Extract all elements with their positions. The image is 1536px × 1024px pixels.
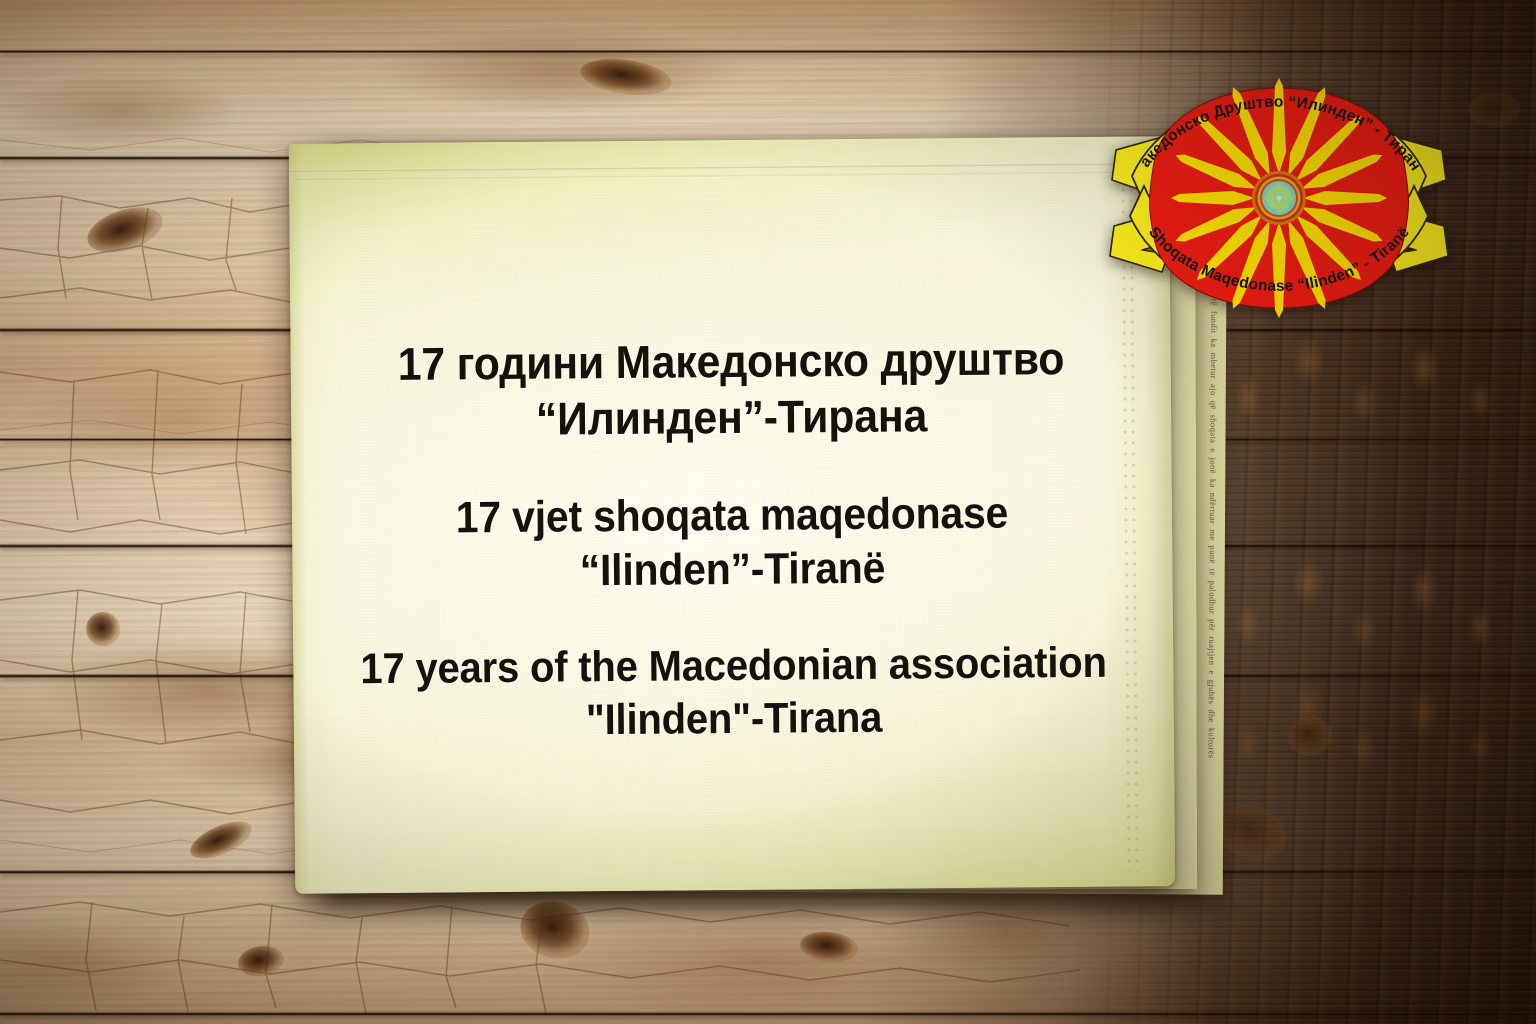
vergina-sun-core: [1252, 171, 1306, 225]
wood-knot: [1288, 716, 1332, 756]
headline-albanian-line2: “Ilinden”-Tiranë: [456, 540, 1009, 598]
ilinden-tirana-emblem: Македонско Друштво “Илинден” - Тирана Sh…: [1104, 58, 1454, 326]
headline-macedonian-line2: “Илинден”-Тирана: [398, 386, 1065, 448]
wood-knot: [1468, 92, 1520, 128]
headline-macedonian: 17 години Македонско друштво “Илинден”-Т…: [397, 330, 1064, 448]
poster-canvas: ndërmjet të ditës së parë dhe të fundit …: [0, 0, 1536, 1024]
headline-english: 17 years of the Macedonian association "…: [360, 637, 1107, 748]
headline-macedonian-line1: 17 години Македонско друштво: [397, 330, 1064, 392]
wood-knot: [86, 612, 120, 646]
headline-albanian-line1: 17 vjet shoqata maqedonase: [456, 487, 1009, 545]
headline-albanian: 17 vjet shoqata maqedonase “Ilinden”-Tir…: [456, 487, 1009, 599]
headline-english-line2: "Ilinden"-Tirana: [360, 690, 1107, 749]
poster-text-block: 17 години Македонско друштво “Илинден”-Т…: [289, 136, 1176, 894]
headline-english-line1: 17 years of the Macedonian association: [360, 637, 1107, 696]
